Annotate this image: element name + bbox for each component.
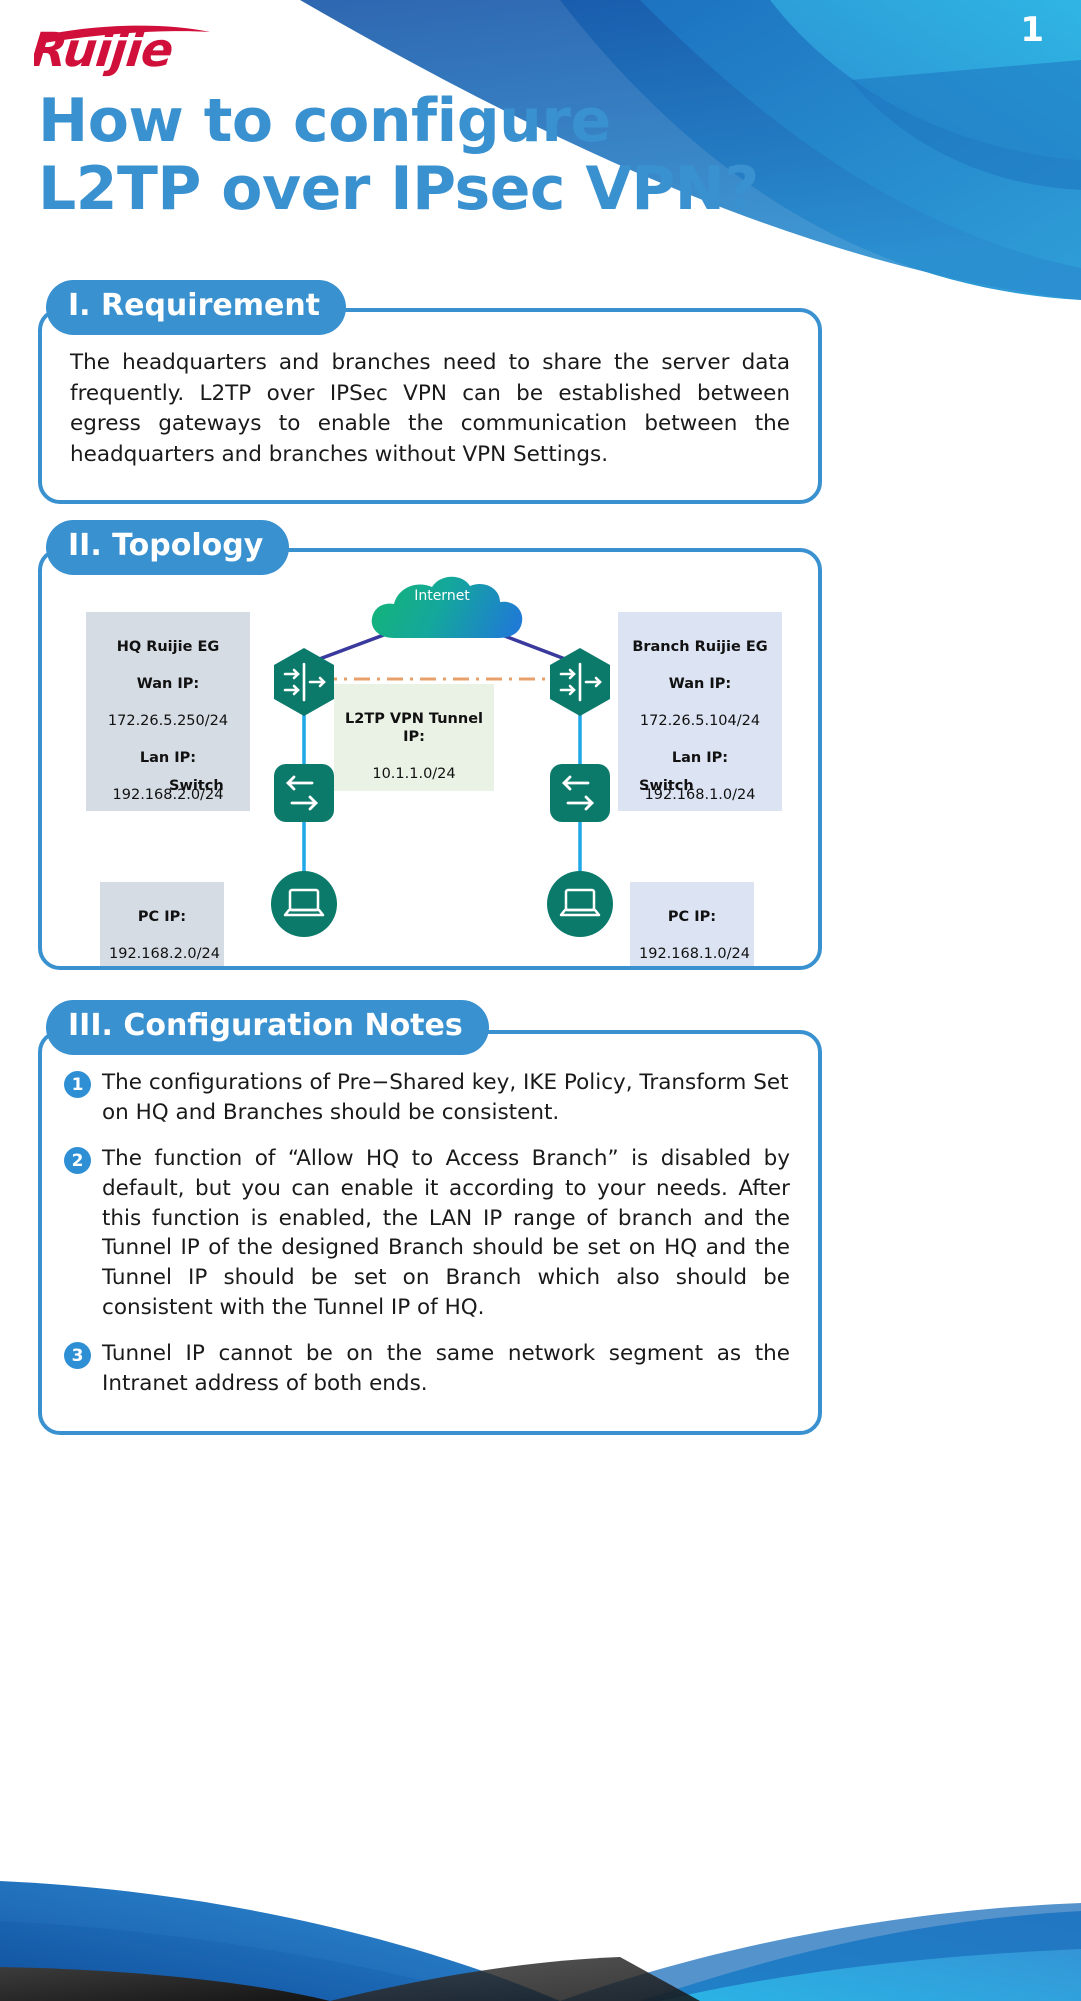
note-number-badge: 3 xyxy=(64,1342,91,1369)
footer-decoration xyxy=(0,1771,1081,2001)
pc-right-value: 192.168.1.0/24 xyxy=(639,946,750,962)
requirement-box: The headquarters and branches need to sh… xyxy=(38,308,822,504)
topology-diagram: Internet HQ Ruijie EG Wan IP: 172.26.5.2… xyxy=(42,552,818,966)
section-requirement: The headquarters and branches need to sh… xyxy=(38,280,822,504)
note-item: 3 Tunnel IP cannot be on the same networ… xyxy=(64,1339,790,1398)
page-title: How to configure L2TP over IPsec VPN? xyxy=(38,88,759,224)
ruijie-logo: Ruijie xyxy=(34,22,224,78)
hq-wan-label: Wan IP: xyxy=(137,676,199,692)
branch-title: Branch Ruijie EG xyxy=(632,639,767,655)
topology-box: Internet HQ Ruijie EG Wan IP: 172.26.5.2… xyxy=(38,548,822,970)
branch-wan-label: Wan IP: xyxy=(669,676,731,692)
pc-right-label: PC IP: 192.168.1.0/24 xyxy=(630,882,754,970)
switch-right-icon xyxy=(550,764,610,822)
pc-left-icon xyxy=(271,871,337,937)
notes-box: 1 The configurations of Pre−Shared key, … xyxy=(38,1030,822,1435)
branch-lan-label: Lan IP: xyxy=(672,750,728,766)
hq-wan-value: 172.26.5.250/24 xyxy=(108,713,228,729)
section-header-notes: III. Configuration Notes xyxy=(46,1000,489,1055)
cloud-label: Internet xyxy=(394,588,490,604)
hq-lan-label: Lan IP: xyxy=(140,750,196,766)
note-text: The function of “Allow HQ to Access Bran… xyxy=(102,1144,790,1322)
page-number: 1 xyxy=(1020,10,1043,50)
note-number-badge: 1 xyxy=(64,1071,91,1098)
pc-right-icon xyxy=(547,871,613,937)
section-header-topology: II. Topology xyxy=(46,520,289,575)
vpn-tunnel-label: L2TP VPN Tunnel IP: 10.1.1.0/24 xyxy=(334,684,494,791)
internet-cloud-icon xyxy=(372,577,523,638)
section-configuration-notes: 1 The configurations of Pre−Shared key, … xyxy=(38,1000,822,1435)
pc-left-title: PC IP: xyxy=(138,909,186,925)
note-text: Tunnel IP cannot be on the same network … xyxy=(102,1339,790,1398)
section-header-requirement: I. Requirement xyxy=(46,280,346,335)
hq-title: HQ Ruijie EG xyxy=(117,639,220,655)
branch-wan-value: 172.26.5.104/24 xyxy=(640,713,760,729)
requirement-text: The headquarters and branches need to sh… xyxy=(70,348,790,470)
note-item: 2 The function of “Allow HQ to Access Br… xyxy=(64,1144,790,1322)
pc-left-label: PC IP: 192.168.2.0/24 xyxy=(100,882,224,970)
section-topology: Internet HQ Ruijie EG Wan IP: 172.26.5.2… xyxy=(38,520,822,970)
note-item: 1 The configurations of Pre−Shared key, … xyxy=(64,1068,790,1127)
switch-left-label: Switch xyxy=(160,770,232,803)
tunnel-value: 10.1.1.0/24 xyxy=(372,766,455,782)
switch-left-icon xyxy=(274,764,334,822)
tunnel-title: L2TP VPN Tunnel IP: xyxy=(345,711,483,746)
note-text: The configurations of Pre−Shared key, IK… xyxy=(102,1068,790,1127)
note-number-badge: 2 xyxy=(64,1147,91,1174)
pc-left-value: 192.168.2.0/24 xyxy=(109,946,220,962)
pc-right-title: PC IP: xyxy=(668,909,716,925)
switch-right-label: Switch xyxy=(630,770,702,803)
